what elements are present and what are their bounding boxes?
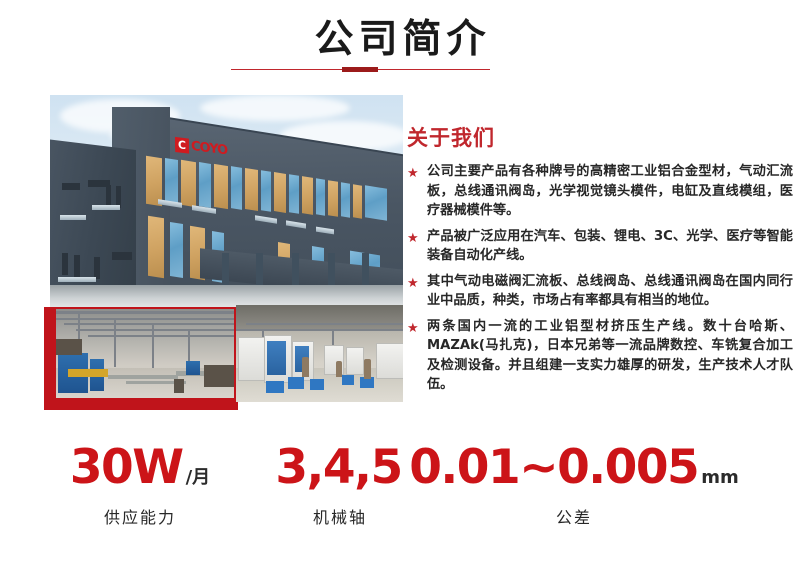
facade-window: [199, 162, 211, 208]
stat-value-row: 3,4,5: [250, 443, 430, 492]
about-bullet-item: ★ 公司主要产品有各种牌号的高精密工业铝合金型材，气动汇流板，总线通讯阀岛，光学…: [407, 162, 793, 221]
roof-truss: [56, 318, 234, 320]
window-dark: [62, 253, 68, 275]
facade-window: [261, 170, 271, 212]
facade-panel: [353, 184, 362, 218]
machine-unit: [204, 365, 234, 387]
about-bullet-item: ★ 其中气动电磁阀汇流板、总线阀岛、总线通讯阀岛在国内同行业中品质，种类，市场占…: [407, 272, 793, 311]
canopy-pillar: [292, 253, 299, 287]
window-awning: [60, 215, 86, 220]
title-underline-accent: [342, 67, 378, 72]
cnc-machine: [346, 347, 364, 375]
machine-shadow: [56, 339, 82, 355]
canopy-pillar: [328, 253, 335, 287]
page-title: 公司简介: [0, 18, 800, 63]
photo-factory: [56, 309, 234, 398]
about-bullet-text: 其中气动电磁阀汇流板、总线阀岛、总线通讯阀岛在国内同行业中品质，种类，市场占有率…: [427, 272, 793, 311]
machine-unit: [186, 361, 200, 375]
canopy-pillar: [362, 253, 369, 287]
company-profile-page: 公司简介: [0, 0, 800, 573]
canopy-pillar: [256, 253, 263, 287]
roof-truss: [76, 329, 234, 331]
conveyor-line: [108, 375, 178, 379]
star-icon: ★: [407, 162, 427, 182]
facade-panel: [274, 172, 286, 213]
roof-column: [152, 325, 154, 369]
window-dark: [74, 255, 80, 277]
workshop-roof: [236, 305, 403, 331]
roof-truss: [56, 311, 234, 314]
facade-panel: [245, 168, 258, 211]
about-bullet-item: ★ 两条国内一流的工业铝型材挤压生产线。数十台哈斯、MAZAk(马扎克)，日本兄…: [407, 317, 793, 395]
roof-column: [114, 319, 116, 367]
window-dark: [106, 185, 111, 207]
facade-panel: [214, 164, 228, 209]
about-bullet-item: ★ 产品被广泛应用在汽车、包装、锂电、3C、光学、医疗等智能装备自动化产线。: [407, 227, 793, 266]
stat-value-row: 30W /月: [30, 443, 250, 492]
facade-window: [289, 174, 299, 214]
title-block: 公司简介: [0, 18, 800, 74]
stat-label: 机械轴: [250, 504, 430, 528]
about-bullet-text: 公司主要产品有各种牌号的高精密工业铝合金型材，气动汇流板，总线通讯阀岛，光学视觉…: [427, 162, 793, 221]
building-forecourt: [50, 285, 403, 307]
roof-truss: [246, 323, 403, 325]
facade-panel: [328, 180, 338, 217]
cnc-machine-door: [267, 341, 286, 375]
star-icon: ★: [407, 317, 427, 337]
cnc-machine: [376, 343, 403, 379]
star-icon: ★: [407, 272, 427, 292]
about-us-heading: 关于我们: [407, 122, 793, 152]
title-underline: [0, 66, 800, 74]
machine-yellow-part: [68, 369, 108, 377]
worker-figure: [336, 361, 342, 377]
chip-cart: [266, 381, 284, 393]
worker-figure: [364, 359, 371, 379]
logo-wordmark: COYO: [191, 139, 227, 158]
facade-window: [170, 222, 183, 278]
about-bullet-text: 产品被广泛应用在汽车、包装、锂电、3C、光学、医疗等智能装备自动化产线。: [427, 227, 793, 266]
about-us-section: 关于我们 ★ 公司主要产品有各种牌号的高精密工业铝合金型材，气动汇流板，总线通讯…: [407, 122, 793, 401]
facade-panel: [181, 160, 196, 207]
window-awning: [92, 205, 120, 210]
roof-truss: [88, 335, 234, 337]
logo-mark-icon: C: [175, 137, 189, 154]
stat-unit: /月: [186, 463, 211, 489]
canopy-pillar: [222, 253, 229, 287]
stat-tolerance: 0.01~0.005 mm 公差: [424, 443, 724, 528]
roof-truss: [64, 323, 234, 325]
stat-machine-axes: 3,4,5 机械轴: [250, 443, 430, 528]
facade-window: [316, 178, 325, 215]
window-dark: [94, 257, 100, 279]
stat-value: 30W: [70, 443, 183, 492]
chip-cart: [288, 377, 304, 389]
stats-row: 30W /月 供应能力 3,4,5 机械轴 0.01~0.005 mm 公差: [0, 443, 800, 553]
facade-panel: [302, 176, 313, 215]
photo-building: C COYO: [50, 95, 403, 307]
stat-value: 0.01~0.005: [409, 443, 698, 492]
window-dark: [62, 183, 80, 190]
stat-label: 供应能力: [30, 504, 250, 528]
facade-window: [341, 182, 350, 217]
stat-label: 公差: [424, 504, 724, 528]
worker-figure: [302, 357, 309, 377]
cnc-machine: [238, 337, 266, 381]
stat-unit: mm: [701, 467, 739, 488]
window-dark: [112, 252, 132, 260]
window-awning: [58, 277, 96, 282]
facade-window: [165, 158, 178, 205]
star-icon: ★: [407, 227, 427, 247]
facade-window: [365, 185, 387, 220]
about-bullet-text: 两条国内一流的工业铝型材挤压生产线。数十台哈斯、MAZAk(马扎克)，日本兄弟等…: [427, 317, 793, 395]
stat-value-row: 0.01~0.005 mm: [424, 443, 724, 492]
facade-panel: [148, 216, 164, 279]
stat-supply-capacity: 30W /月 供应能力: [30, 443, 250, 528]
cloud-shape: [200, 95, 350, 121]
photo-cnc-workshop: [236, 305, 403, 402]
chip-cart: [342, 375, 354, 385]
machine-unit: [174, 379, 184, 393]
chip-cart: [310, 379, 324, 390]
facade-window: [231, 166, 242, 210]
photo-collage: C COYO: [50, 95, 403, 410]
stat-value: 3,4,5: [275, 443, 401, 492]
